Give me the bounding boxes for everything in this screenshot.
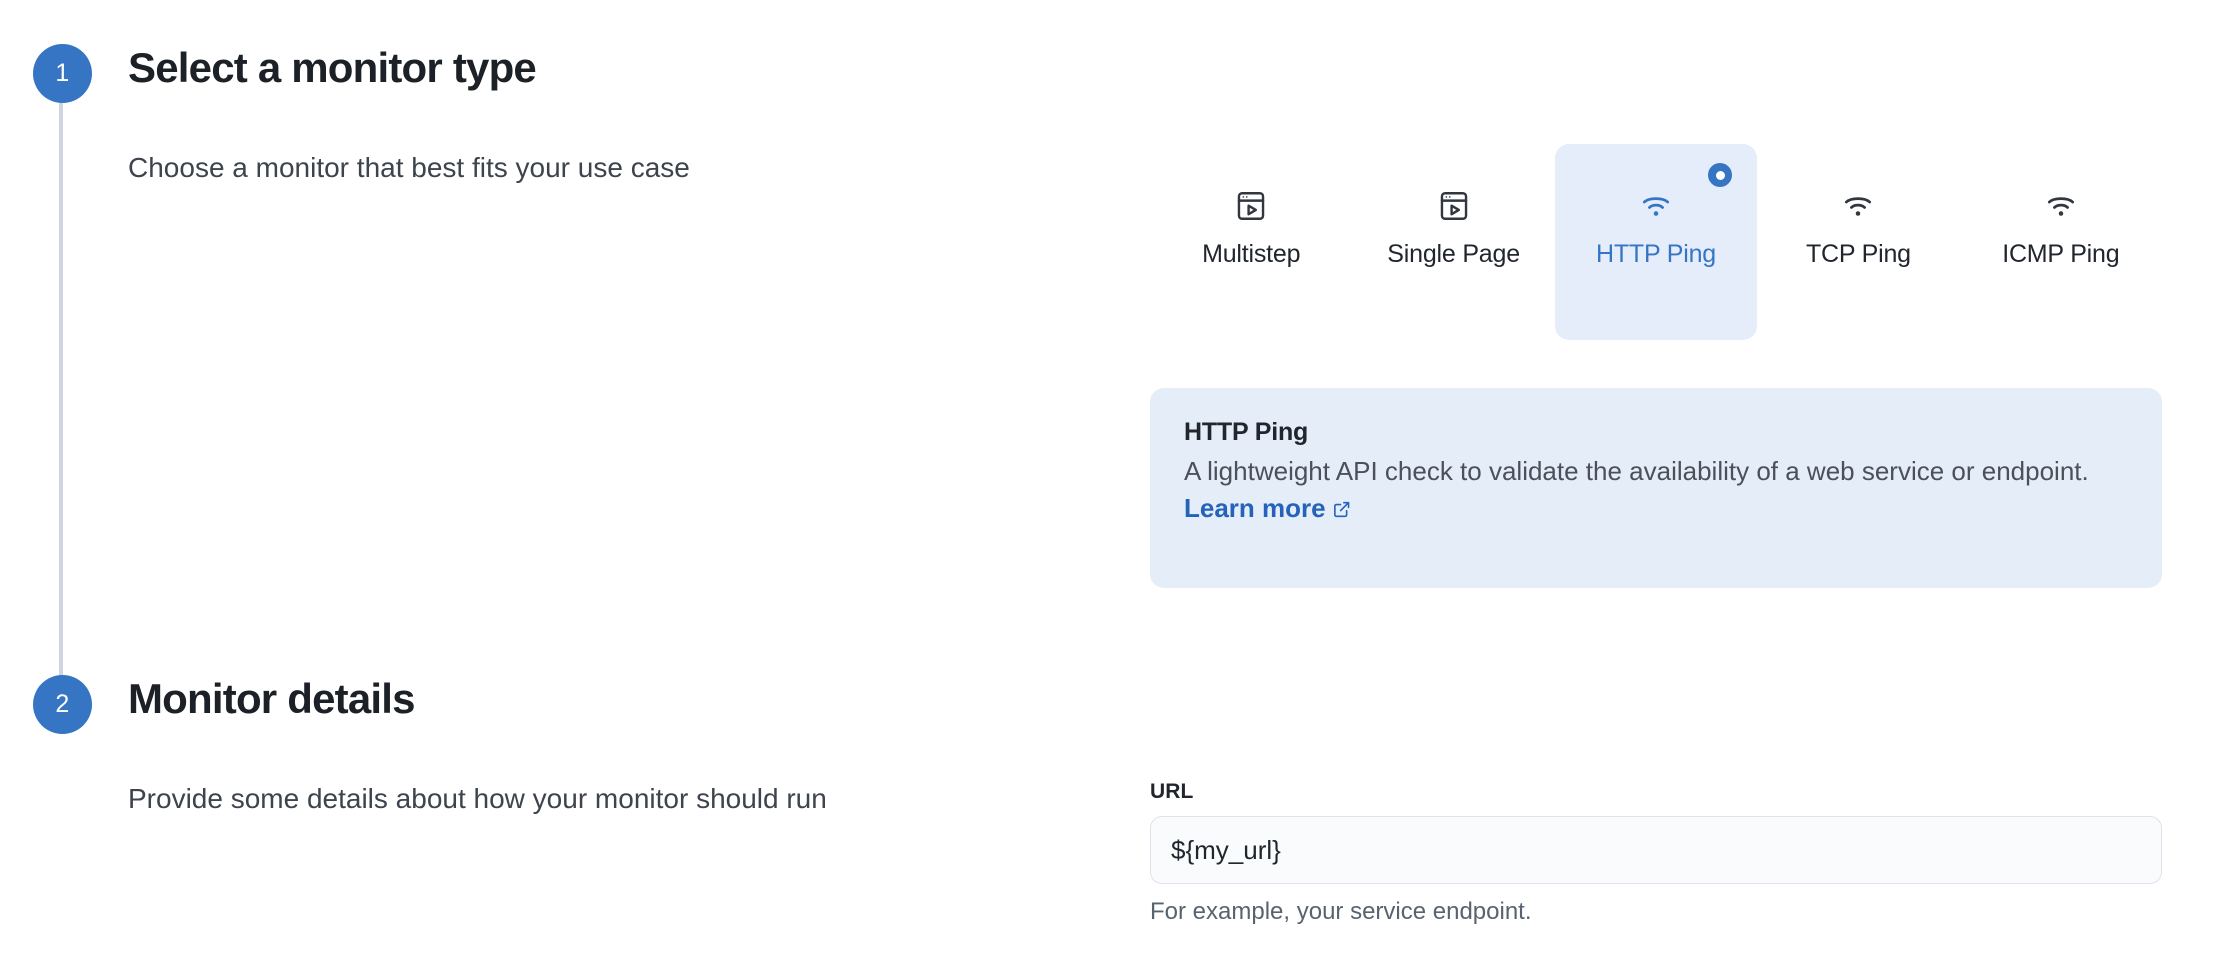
monitor-type-selector: Multistep Single Page HTTP Ping [1150,144,2162,340]
radio-selected-icon[interactable] [1708,163,1732,187]
external-link-icon [1332,492,1351,529]
monitor-type-info-callout: HTTP Ping A lightweight API check to val… [1150,388,2162,588]
step-description-2: Provide some details about how your moni… [128,783,827,815]
info-callout-text: A lightweight API check to validate the … [1184,456,2089,486]
info-callout-description: A lightweight API check to validate the … [1184,453,2124,529]
monitor-type-card-multistep[interactable]: Multistep [1150,144,1352,340]
step-title-2: Monitor details [128,675,415,723]
url-input[interactable] [1150,816,2162,884]
url-field-label: URL [1150,780,2162,804]
url-field-block: URL For example, your service endpoint. [1150,780,2162,926]
monitor-type-card-http-ping[interactable]: HTTP Ping [1555,144,1757,340]
info-callout-title: HTTP Ping [1184,418,2128,447]
step-number-badge-1: 1 [33,44,92,103]
learn-more-label: Learn more [1184,493,1326,523]
monitor-type-label: TCP Ping [1806,240,1911,269]
monitor-type-card-icmp-ping[interactable]: ICMP Ping [1960,144,2162,340]
browser-play-icon [1234,186,1268,226]
monitor-type-label: HTTP Ping [1596,240,1716,269]
monitor-type-card-tcp-ping[interactable]: TCP Ping [1757,144,1959,340]
wifi-ping-icon [2043,186,2079,226]
monitor-type-label: Multistep [1202,240,1300,269]
monitor-type-label: ICMP Ping [2002,240,2119,269]
monitor-type-card-single-page[interactable]: Single Page [1352,144,1554,340]
stepper-connector-line [59,96,63,702]
wifi-ping-icon [1840,186,1876,226]
browser-play-icon [1437,186,1471,226]
step-description-1: Choose a monitor that best fits your use… [128,152,690,184]
step-number-badge-2: 2 [33,675,92,734]
url-field-help-text: For example, your service endpoint. [1150,898,2162,926]
learn-more-link[interactable]: Learn more [1184,493,1351,523]
wifi-ping-icon [1638,186,1674,226]
monitor-type-label: Single Page [1387,240,1520,269]
step-title-1: Select a monitor type [128,44,536,92]
